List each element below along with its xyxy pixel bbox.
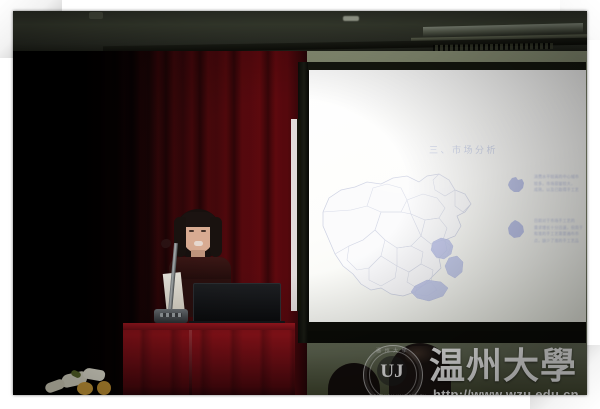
projection-screen-bottom-band xyxy=(298,322,586,331)
microphone-buttons xyxy=(160,313,182,317)
flower-yellow xyxy=(77,382,93,395)
flower-yellow xyxy=(97,381,111,395)
laptop-screen xyxy=(193,283,281,323)
slide-bullet-1: 消费水平较高的中心城市 较多，市场容量较大， 成熟，以及已取得手工艺 xyxy=(505,174,586,196)
presenter-eye-right xyxy=(201,230,206,232)
presenter-mouth xyxy=(194,241,203,246)
projection-screen: 三、市场分析 xyxy=(309,70,586,322)
china-map-svg xyxy=(315,154,483,314)
projection-screen-edge xyxy=(297,119,301,311)
laptop-computer xyxy=(193,283,281,327)
flower-arrangement xyxy=(43,369,153,395)
flower-white xyxy=(44,378,66,394)
slide-bullet-2-text: 目前对于市场手工艺的 需求增长十分迅速，但用于 和准的手工艺需要遍布市 点，缺少… xyxy=(534,218,586,244)
podium-drape-fold xyxy=(189,330,192,395)
podium-surface xyxy=(123,323,295,330)
china-map xyxy=(315,154,483,314)
slide: 三、市场分析 xyxy=(309,70,586,322)
audience-hair-highlight xyxy=(405,346,435,364)
slide-bullet-1-text: 消费水平较高的中心城市 较多，市场容量较大， 成熟，以及已取得手工艺 xyxy=(534,174,586,194)
province-shape-icon xyxy=(505,174,527,196)
presenter-eye-left xyxy=(189,230,194,232)
province-shape-icon xyxy=(505,218,527,240)
photo-frame: 三、市场分析 xyxy=(0,0,600,409)
ceiling-light-icon xyxy=(343,16,359,21)
ceiling-perforations xyxy=(433,43,553,51)
ceiling-fixture xyxy=(89,12,103,19)
presenter-hair-right xyxy=(210,217,222,257)
slide-bullet-2: 目前对于市场手工艺的 需求增长十分迅速，但用于 和准的手工艺需要遍布市 点，缺少… xyxy=(505,218,586,244)
photograph: 三、市场分析 xyxy=(13,11,587,395)
